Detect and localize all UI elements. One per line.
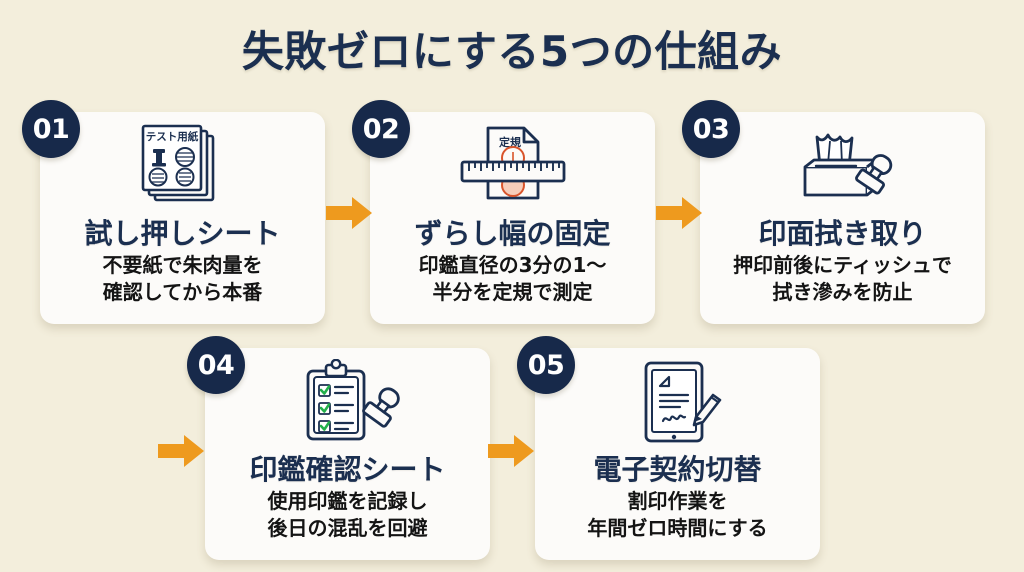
card-subtitle: 使用印鑑を記録し 後日の混乱を回避 (205, 488, 490, 541)
svg-text:テスト用紙: テスト用紙 (145, 130, 198, 143)
step-badge-04: 04 (187, 336, 245, 394)
card-subtitle: 押印前後にティッシュで 拭き滲みを防止 (700, 252, 985, 305)
step-card-02: 定規 ずらし幅の固定 印鑑直径の3分の1〜 半分を定規で測定 (370, 112, 655, 324)
card-heading: 試し押しシート (40, 212, 325, 252)
step-badge-05: 05 (517, 336, 575, 394)
card-subtitle-line1: 割印作業を (535, 488, 820, 515)
card-subtitle-line2: 確認してから本番 (40, 279, 325, 306)
card-subtitle-line1: 不要紙で朱肉量を (40, 252, 325, 279)
step-card-04: 印鑑確認シート 使用印鑑を記録し 後日の混乱を回避 (205, 348, 490, 560)
card-heading: 電子契約切替 (535, 448, 820, 488)
card-subtitle-line1: 押印前後にティッシュで (700, 252, 985, 279)
page-title: 失敗ゼロにする5つの仕組み (0, 18, 1024, 79)
card-subtitle: 印鑑直径の3分の1〜 半分を定規で測定 (370, 252, 655, 305)
card-subtitle-line2: 年間ゼロ時間にする (535, 515, 820, 542)
step-badge-03: 03 (682, 100, 740, 158)
card-subtitle: 割印作業を 年間ゼロ時間にする (535, 488, 820, 541)
ruler-document-icon: 定規 (370, 120, 655, 212)
card-subtitle: 不要紙で朱肉量を 確認してから本番 (40, 252, 325, 305)
tissue-box-stamp-icon (700, 120, 985, 212)
arrow-card3-to-card4-icon (158, 434, 204, 468)
test-paper-stack-icon: テスト用紙 (40, 120, 325, 212)
tablet-signature-icon (535, 356, 820, 448)
arrow-card1-to-card2-icon (326, 196, 372, 230)
card-subtitle-line2: 半分を定規で測定 (370, 279, 655, 306)
arrow-card4-to-card5-icon (488, 434, 534, 468)
step-card-05: 電子契約切替 割印作業を 年間ゼロ時間にする (535, 348, 820, 560)
step-badge-02: 02 (352, 100, 410, 158)
step-badge-01: 01 (22, 100, 80, 158)
step-card-03: 印面拭き取り 押印前後にティッシュで 拭き滲みを防止 (700, 112, 985, 324)
card-heading: 印面拭き取り (700, 212, 985, 252)
card-subtitle-line1: 使用印鑑を記録し (205, 488, 490, 515)
card-subtitle-line2: 後日の混乱を回避 (205, 515, 490, 542)
clipboard-checklist-stamp-icon (205, 356, 490, 448)
card-subtitle-line1: 印鑑直径の3分の1〜 (370, 252, 655, 279)
step-card-01: テスト用紙 試し押しシート 不要紙で朱肉量を 確認してから本番 (40, 112, 325, 324)
card-heading: 印鑑確認シート (205, 448, 490, 488)
arrow-card2-to-card3-icon (656, 196, 702, 230)
card-subtitle-line2: 拭き滲みを防止 (700, 279, 985, 306)
card-heading: ずらし幅の固定 (370, 212, 655, 252)
